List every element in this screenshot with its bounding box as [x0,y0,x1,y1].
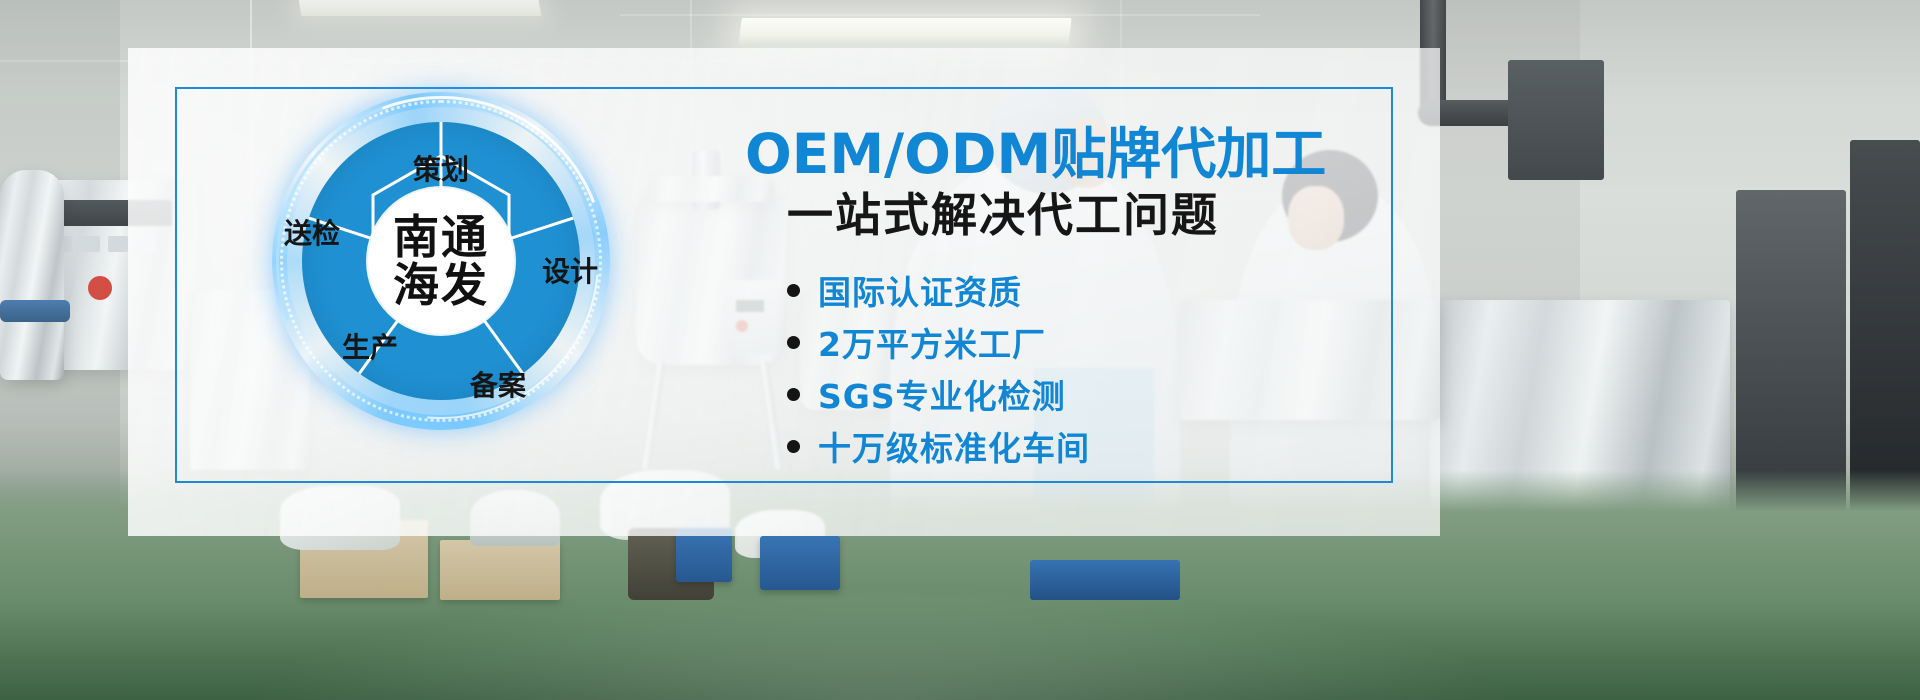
feature-bullet-list: 国际认证资质 2万平方米工厂 SGS专业化检测 十万级标准化车间 [787,266,1445,470]
subheadline: 一站式解决代工问题 [787,186,1445,244]
company-name-line1: 南通 [393,213,489,261]
list-item: 国际认证资质 [787,266,1445,314]
list-item: 2万平方米工厂 [787,318,1445,366]
segment-label-planning: 策划 [391,148,491,188]
segment-label-inspection: 送检 [257,212,367,252]
process-wheel-diagram: 南通 海发 策划 设计 备案 生产 送检 [272,92,610,430]
bullet-label: 十万级标准化车间 [818,422,1090,470]
bullet-dot-icon [787,284,800,297]
bullet-label: 国际认证资质 [818,266,1022,314]
bullet-dot-icon [787,440,800,453]
list-item: SGS专业化检测 [787,370,1445,418]
list-item: 十万级标准化车间 [787,422,1445,470]
bullet-label: 2万平方米工厂 [818,318,1046,366]
bullet-dot-icon [787,388,800,401]
bullet-label: SGS专业化检测 [818,370,1066,418]
promo-banner: 南通 海发 策划 设计 备案 生产 送检 OEM/ODM贴牌代加工 一站式解决代… [0,0,1920,700]
headline: OEM/ODM贴牌代加工 [745,122,1445,186]
marketing-copy-block: OEM/ODM贴牌代加工 一站式解决代工问题 国际认证资质 2万平方米工厂 SG… [745,122,1445,474]
segment-label-production: 生产 [320,326,420,366]
company-name-hub: 南通 海发 [368,188,514,334]
company-name-line2: 海发 [393,261,489,309]
segment-label-design: 设计 [520,250,620,290]
bullet-dot-icon [787,336,800,349]
segment-label-filing: 备案 [448,364,548,404]
